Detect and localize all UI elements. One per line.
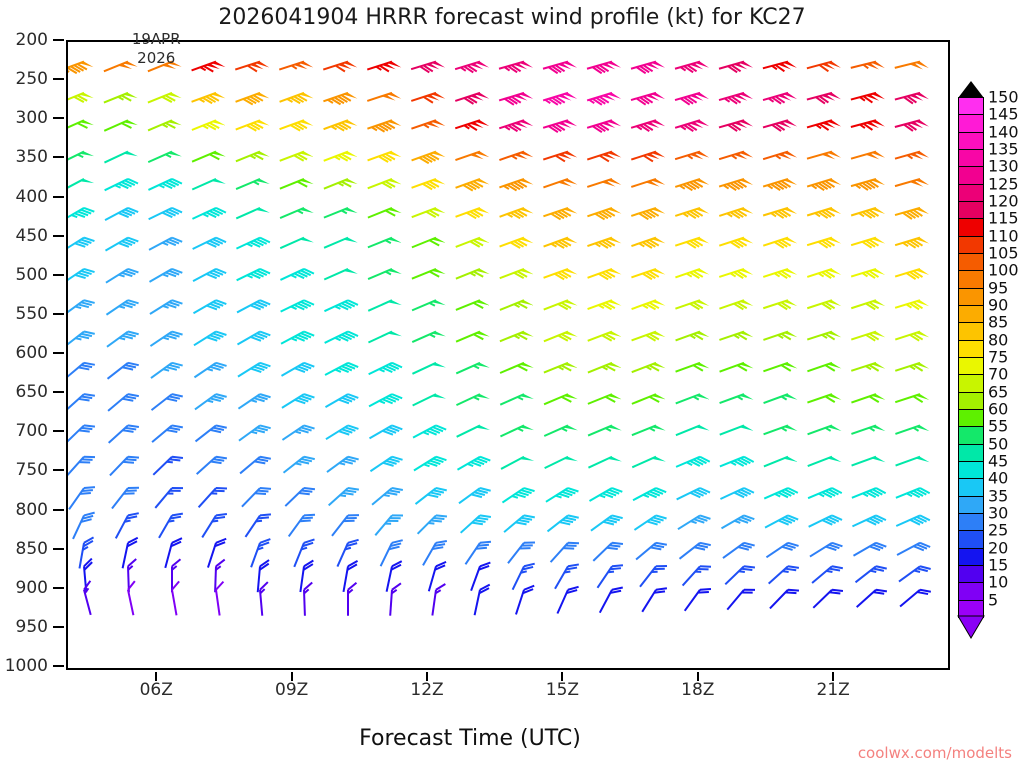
wind-barb — [457, 425, 490, 436]
colorbar-tick-label: 70 — [988, 365, 1008, 384]
wind-barb — [68, 269, 95, 284]
colorbar-tick-label: 80 — [988, 330, 1008, 349]
colorbar-tick-label: 145 — [988, 105, 1019, 124]
colorbar-tick-label: 15 — [988, 556, 1008, 575]
wind-barb — [764, 457, 798, 467]
wind-barb — [208, 539, 226, 568]
wind-barb — [455, 62, 489, 73]
wind-barb — [412, 238, 446, 248]
wind-barb — [851, 363, 885, 371]
colorbar-tick-label: 5 — [988, 590, 998, 609]
colorbar-cell — [958, 513, 984, 531]
colorbar-tick-label: 35 — [988, 486, 1008, 505]
x-axis-title: Forecast Time (UTC) — [120, 726, 820, 751]
colorbar-tick-label: 120 — [988, 192, 1019, 211]
wind-barb — [899, 566, 931, 581]
y-axis-tick-label: 500 — [16, 265, 48, 285]
wind-barb — [412, 152, 446, 164]
wind-barb — [193, 238, 226, 249]
colorbar-cell — [958, 444, 984, 462]
y-axis-tick-mark — [53, 313, 64, 315]
colorbar-cell — [958, 565, 984, 583]
colorbar-cell — [958, 409, 984, 427]
wind-barb — [851, 152, 885, 160]
wind-barb — [348, 583, 356, 616]
wind-barb — [543, 62, 577, 74]
wind-barb — [719, 152, 753, 160]
wind-barb — [719, 269, 753, 278]
wind-barb — [807, 332, 841, 340]
wind-barb — [412, 179, 446, 189]
wind-barb — [544, 363, 578, 373]
wind-barb — [327, 457, 359, 472]
wind-barb — [896, 515, 930, 526]
wind-barb — [68, 425, 95, 443]
wind-barb — [813, 590, 843, 608]
wind-barb — [372, 488, 403, 505]
wind-barb — [456, 269, 490, 279]
colorbar-tick-label: 125 — [988, 174, 1019, 193]
y-axis-tick-mark — [53, 196, 64, 198]
colorbar-cell — [958, 236, 984, 254]
wind-barb — [895, 332, 929, 341]
wind-barb — [367, 120, 401, 132]
wind-barb — [104, 93, 138, 103]
wind-barb — [675, 93, 709, 105]
wind-barb — [500, 394, 534, 405]
y-axis-tick-label: 650 — [16, 382, 48, 402]
wind-barb — [216, 582, 223, 616]
wind-barb — [280, 179, 314, 189]
wind-barb — [677, 488, 710, 499]
colorbar-cell — [958, 530, 984, 548]
wind-barb — [678, 515, 710, 529]
wind-barb — [153, 457, 183, 475]
wind-barb — [642, 588, 667, 612]
colorbar-tick-label: 65 — [988, 382, 1008, 401]
wind-barb — [808, 425, 842, 434]
wind-barb — [719, 62, 753, 73]
wind-barb — [597, 565, 622, 588]
wind-barb — [329, 488, 359, 505]
colorbar-cell — [958, 97, 984, 115]
wind-barb — [895, 425, 929, 433]
colorbar-tick-label: 75 — [988, 348, 1008, 367]
wind-barb — [632, 300, 666, 309]
wind-barb — [237, 269, 270, 280]
wind-barb — [412, 269, 446, 279]
wind-barb — [245, 514, 270, 537]
wind-barb — [588, 269, 622, 279]
wind-barb — [240, 457, 271, 474]
wind-barb — [852, 515, 886, 526]
wind-barb — [68, 394, 95, 411]
wind-barb — [68, 120, 94, 131]
wind-barb — [237, 300, 270, 312]
wind-barb — [285, 488, 315, 506]
wind-barb — [107, 332, 139, 347]
wind-barb — [763, 208, 797, 218]
wind-barb — [675, 179, 709, 190]
colorbar-tick-label: 25 — [988, 521, 1008, 540]
wind-barb — [325, 394, 358, 407]
wind-barb — [587, 179, 621, 187]
wind-barb — [68, 93, 94, 103]
wind-barb — [281, 363, 314, 376]
wind-barb — [543, 208, 577, 220]
wind-barb — [196, 425, 227, 441]
wind-barb — [633, 488, 666, 500]
wind-barb — [251, 539, 270, 567]
wind-barb — [763, 93, 797, 104]
wind-barb — [429, 562, 446, 591]
wind-barb — [412, 300, 446, 310]
colorbar-tick-label: 110 — [988, 226, 1019, 245]
colorbar-cell — [958, 392, 984, 410]
wind-barb — [413, 425, 446, 437]
wind-barb — [260, 582, 268, 616]
wind-barb — [764, 425, 798, 434]
colorbar-cell — [958, 548, 984, 566]
colorbar-cell — [958, 305, 984, 323]
wind-barb — [720, 425, 754, 434]
wind-barb — [851, 62, 885, 70]
wind-barb — [851, 179, 885, 190]
wind-barb — [719, 238, 753, 248]
wind-barb — [172, 581, 179, 615]
colorbar-bottom-arrow — [958, 616, 984, 638]
y-axis-tick-label: 550 — [16, 304, 48, 324]
wind-barb — [763, 62, 797, 72]
wind-barb — [587, 93, 621, 105]
wind-barb — [282, 425, 314, 440]
wind-barb — [192, 62, 226, 72]
wind-barb — [545, 457, 578, 468]
colorbar-tick-label: 45 — [988, 452, 1008, 471]
wind-barb — [324, 208, 358, 218]
wind-barb — [631, 93, 665, 105]
wind-barb — [807, 363, 841, 371]
wind-barb — [640, 566, 667, 587]
colorbar-cell — [958, 201, 984, 219]
wind-barb — [414, 457, 446, 471]
wind-barb — [593, 543, 623, 561]
wind-barb — [238, 363, 270, 377]
wind-barb — [851, 300, 885, 309]
wind-barb — [165, 538, 182, 568]
wind-barb — [588, 457, 622, 468]
wind-barb — [499, 93, 533, 105]
wind-barb — [851, 238, 885, 248]
wind-barb — [456, 363, 490, 374]
wind-barb — [412, 363, 446, 374]
wind-barb — [155, 488, 183, 508]
wind-barb — [808, 457, 842, 466]
wind-barb — [853, 543, 886, 556]
wind-barb — [236, 152, 270, 162]
wind-barb — [432, 584, 445, 616]
colorbar-cell — [958, 270, 984, 288]
wind-barb — [105, 208, 138, 220]
wind-barb — [851, 425, 885, 433]
colorbar-cell — [958, 149, 984, 167]
wind-barb — [685, 589, 711, 611]
colorbar-tick-label: 30 — [988, 504, 1008, 523]
wind-barb — [412, 208, 446, 217]
wind-barb — [370, 457, 402, 472]
wind-barb — [236, 120, 270, 130]
wind-barb — [152, 425, 183, 442]
wind-barb — [281, 300, 314, 311]
wind-barb — [543, 179, 577, 187]
plot-area — [68, 42, 948, 668]
y-axis-tick-mark — [53, 587, 64, 589]
wind-barb — [588, 332, 622, 341]
wind-barb — [499, 120, 533, 131]
wind-barb — [676, 457, 710, 467]
x-axis-tick-label: 18Z — [681, 680, 714, 700]
watermark: coolwx.com/modelts — [858, 744, 1012, 762]
colorbar-cell — [958, 496, 984, 514]
colorbar-tick-label: 50 — [988, 434, 1008, 453]
wind-barb — [69, 487, 95, 509]
wind-barb — [807, 152, 841, 160]
wind-barb — [807, 238, 841, 248]
wind-barb — [367, 93, 401, 101]
wind-barb — [159, 514, 183, 538]
wind-barb — [720, 457, 754, 467]
wind-barb — [148, 120, 182, 130]
wind-barb — [68, 208, 94, 221]
wind-barb — [544, 332, 578, 342]
wind-barb — [676, 425, 710, 435]
wind-barb — [236, 179, 270, 189]
wind-barb — [676, 394, 710, 403]
wind-barb — [764, 488, 798, 499]
wind-barb — [675, 300, 709, 309]
wind-barb — [543, 93, 577, 105]
wind-barb — [104, 152, 138, 163]
wind-barb — [675, 62, 709, 73]
wind-barb — [895, 152, 929, 160]
wind-barb — [412, 332, 446, 343]
wind-barb — [675, 269, 709, 278]
wind-barb — [632, 363, 666, 372]
wind-barb — [324, 120, 358, 130]
wind-barb — [368, 152, 402, 162]
wind-barb — [416, 488, 447, 504]
x-axis-tick-label: 12Z — [410, 680, 443, 700]
colorbar-cell — [958, 478, 984, 496]
x-axis-tick-label: 15Z — [546, 680, 579, 700]
colorbar-cell — [958, 357, 984, 375]
wind-barb — [68, 300, 95, 315]
wind-barb — [68, 363, 95, 380]
wind-barb — [500, 425, 534, 436]
wind-barb — [546, 488, 578, 502]
wind-barb — [500, 269, 534, 278]
x-axis-tick-label: 09Z — [275, 680, 308, 700]
wind-barb — [368, 300, 402, 311]
y-axis-tick-label: 450 — [16, 226, 48, 246]
wind-barb — [812, 566, 843, 583]
wind-barb — [68, 179, 94, 191]
wind-barb — [676, 363, 710, 372]
colorbar-cell — [958, 132, 984, 150]
y-axis-tick-mark — [53, 39, 64, 41]
colorbar-cell — [958, 340, 984, 358]
wind-barb — [149, 238, 182, 250]
colorbar-tick-label: 105 — [988, 244, 1019, 263]
wind-barb — [809, 515, 842, 526]
wind-barb — [192, 120, 226, 130]
wind-barb — [587, 152, 621, 162]
wind-barb — [631, 120, 665, 131]
wind-barb — [808, 488, 842, 498]
x-axis: 06Z09Z12Z15Z18Z21Z — [0, 672, 1024, 712]
wind-barb — [725, 566, 755, 584]
wind-barb — [279, 62, 313, 70]
wind-barb — [280, 208, 314, 218]
wind-barb — [368, 238, 402, 248]
wind-barb — [763, 120, 797, 131]
colorbar-cell — [958, 114, 984, 132]
wind-barb — [807, 62, 841, 72]
wind-barb — [148, 93, 182, 103]
wind-barb — [763, 179, 797, 190]
wind-barb — [896, 457, 930, 466]
wind-barb — [367, 62, 401, 72]
wind-barb — [280, 93, 314, 103]
wind-barb — [197, 457, 227, 474]
y-axis-tick-label: 300 — [16, 108, 48, 128]
wind-barb — [106, 269, 138, 283]
wind-barb — [513, 564, 535, 590]
colorbar-tick-label: 90 — [988, 296, 1008, 315]
wind-barb — [456, 300, 490, 310]
colorbar-cell — [958, 253, 984, 271]
y-axis-tick-mark — [53, 626, 64, 628]
wind-barb — [112, 488, 139, 509]
y-axis-tick-mark — [53, 78, 64, 80]
wind-barb — [194, 332, 226, 346]
wind-barb-field — [68, 42, 948, 668]
wind-barb — [369, 394, 402, 406]
wind-barb — [323, 62, 357, 72]
wind-barb — [104, 120, 138, 131]
wind-barb — [500, 332, 534, 342]
wind-barb — [192, 93, 226, 103]
wind-barb — [719, 208, 753, 218]
wind-barb — [765, 515, 798, 527]
wind-barb — [632, 394, 666, 404]
wind-barb — [680, 543, 711, 559]
wind-barb — [587, 238, 621, 248]
colorbar-tick-label: 150 — [988, 88, 1019, 107]
wind-barb — [150, 332, 182, 347]
wind-barb — [369, 425, 402, 438]
colorbar-cell — [958, 288, 984, 306]
wind-barb — [727, 590, 755, 610]
y-axis-tick-mark — [53, 156, 64, 158]
wind-barb — [720, 363, 754, 372]
wind-barb — [192, 208, 226, 219]
wind-barb — [235, 62, 269, 72]
wind-barb — [242, 488, 271, 507]
wind-barb — [193, 300, 226, 313]
wind-barb — [763, 363, 797, 371]
wind-barb — [764, 394, 798, 403]
wind-barb — [587, 208, 621, 220]
wind-barb — [807, 208, 841, 218]
wind-barb — [895, 179, 929, 187]
wind-barb — [632, 425, 666, 435]
wind-barb — [390, 583, 401, 615]
wind-barb — [634, 515, 666, 530]
colorbar-cell — [958, 461, 984, 479]
y-axis: 2002503003504004505005506006507007508008… — [0, 40, 64, 670]
wind-barb — [719, 179, 753, 190]
wind-barb — [500, 208, 534, 218]
wind-barb — [895, 120, 929, 131]
wind-barb — [851, 208, 885, 218]
wind-barb — [544, 269, 578, 279]
wind-barb — [895, 394, 929, 402]
wind-barb — [324, 300, 358, 311]
wind-barb — [105, 179, 138, 190]
wind-barb — [763, 269, 797, 278]
wind-barb — [109, 425, 139, 442]
colorbar-tick-label: 40 — [988, 469, 1008, 488]
wind-barb — [326, 425, 358, 439]
wind-barb — [281, 332, 314, 344]
wind-barb — [324, 269, 358, 280]
wind-barb — [600, 588, 623, 613]
wind-barb — [851, 394, 885, 402]
wind-barb — [456, 238, 490, 247]
wind-barb — [368, 269, 402, 279]
wind-barb — [508, 542, 535, 563]
wind-barb — [284, 457, 315, 473]
wind-barb — [456, 394, 490, 405]
colorbar-cell — [958, 322, 984, 340]
wind-barb — [413, 394, 446, 405]
wind-barb — [456, 208, 490, 218]
y-axis-tick-label: 800 — [16, 500, 48, 520]
wind-barb — [719, 300, 753, 309]
wind-barb — [676, 332, 710, 341]
wind-barb — [499, 152, 533, 160]
x-axis-tick-label: 21Z — [817, 680, 850, 700]
wind-barb — [557, 587, 578, 614]
wind-barb — [215, 560, 225, 593]
wind-barb — [675, 152, 709, 160]
wind-barb — [325, 363, 358, 375]
wind-barb — [202, 514, 227, 538]
wind-barb — [632, 332, 666, 341]
wind-barb — [675, 120, 709, 131]
y-axis-tick-mark — [53, 665, 64, 667]
wind-barb — [501, 457, 534, 469]
wind-barb — [304, 582, 312, 615]
wind-barb — [108, 394, 139, 411]
wind-barb — [461, 515, 491, 532]
wind-barb — [591, 515, 623, 530]
y-axis-tick-mark — [53, 548, 64, 550]
wind-barb — [632, 457, 666, 468]
wind-barb — [551, 543, 579, 562]
wind-barb — [588, 363, 622, 373]
